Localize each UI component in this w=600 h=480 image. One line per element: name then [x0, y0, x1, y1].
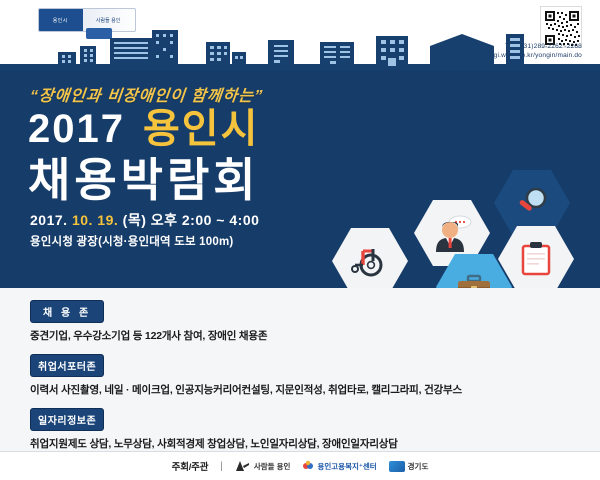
zones-panel: 채 용 존 중견기업, 우수강소기업 등 122개사 참여, 장애인 채용존 취… [0, 288, 600, 452]
event-date-month: 10. [72, 212, 93, 228]
businessman-icon [430, 214, 474, 252]
zone-supporter: 취업서포터존 이력서 사진촬영, 네일 · 메이크업, 인공지능커리어컨설팅, … [30, 354, 462, 397]
poster-footer: 주회/주관 | 사람들 용인 용인고용복지⁺센터 경기도 [0, 452, 600, 480]
poster-tagline: “장애인과 비장애인이 함께하는” [29, 82, 265, 106]
yongin-logo-right: 사람들 용인 [81, 17, 135, 24]
event-date-suffix: (목) 오후 2:00 ~ 4:00 [123, 212, 260, 228]
event-venue: 용인시청 광장(시청·용인대역 도보 100m) [30, 233, 233, 249]
poster-title-line2: 채용박람회 [28, 154, 260, 206]
clipboard-icon [518, 240, 554, 278]
footer-logo-yongin: 사람들 용인 [235, 460, 291, 472]
poster-header: 용인시 사람들 용인 [0, 0, 600, 70]
event-datetime: 2017. 10. 19. (목) 오후 2:00 ~ 4:00 [30, 210, 259, 230]
poster-title-line1: 2017용인시 [28, 106, 259, 152]
wheelchair-icon [349, 243, 391, 279]
zone-recruitment-desc: 중견기업, 우수강소기업 등 122개사 참여, 장애인 채용존 [30, 328, 267, 343]
zone-jobinfo: 일자리정보존 취업지원제도 상담, 노무상담, 사회적경제 창업상담, 노인일자… [30, 408, 398, 451]
zone-recruitment-badge: 채 용 존 [30, 300, 104, 323]
employment-center-mark-icon [302, 460, 314, 472]
footer-logo-yongin-label: 사람들 용인 [254, 461, 291, 472]
event-date-prefix: 2017. [30, 212, 68, 228]
poster-title-year: 2017 [28, 107, 125, 151]
zone-recruitment: 채 용 존 중견기업, 우수강소기업 등 122개사 참여, 장애인 채용존 [30, 300, 267, 343]
people-mark-icon [235, 460, 251, 472]
event-date-day: 19. [97, 212, 118, 228]
hex-cell-clipboard [498, 226, 574, 292]
magnifier-icon [512, 186, 552, 220]
poster-root: 용인시 사람들 용인 [0, 0, 600, 480]
zone-supporter-desc: 이력서 사진촬영, 네일 · 메이크업, 인공지능커리어컨설팅, 지문인적성, … [30, 382, 462, 397]
footer-logo-employment-center: 용인고용복지⁺센터 [302, 460, 376, 472]
city-skyline-illustration [0, 28, 600, 72]
zone-jobinfo-badge: 일자리정보존 [30, 408, 104, 431]
yongin-logo-left-label: 용인시 [53, 17, 68, 24]
poster-title-city: 용인시 [143, 107, 259, 151]
footer-logo-gyeonggi: 경기도 [389, 461, 429, 472]
footer-host-label: 주회/주관 [172, 459, 209, 473]
footer-logo-gyeonggi-label: 경기도 [408, 461, 429, 472]
gyeonggi-mark-icon [389, 461, 405, 472]
hex-cell-wheelchair [332, 228, 408, 294]
zone-supporter-badge: 취업서포터존 [30, 354, 104, 377]
footer-logo-employment-center-label: 용인고용복지⁺센터 [317, 461, 376, 472]
footer-divider: | [220, 461, 223, 472]
yongin-logo-right-label: 사람들 용인 [96, 17, 120, 24]
poster-main-navy: “장애인과 비장애인이 함께하는” 2017용인시 채용박람회 2017. 10… [0, 70, 600, 288]
zone-jobinfo-desc: 취업지원제도 상담, 노무상담, 사회적경제 창업상담, 노인일자리상담, 장애… [30, 436, 398, 451]
